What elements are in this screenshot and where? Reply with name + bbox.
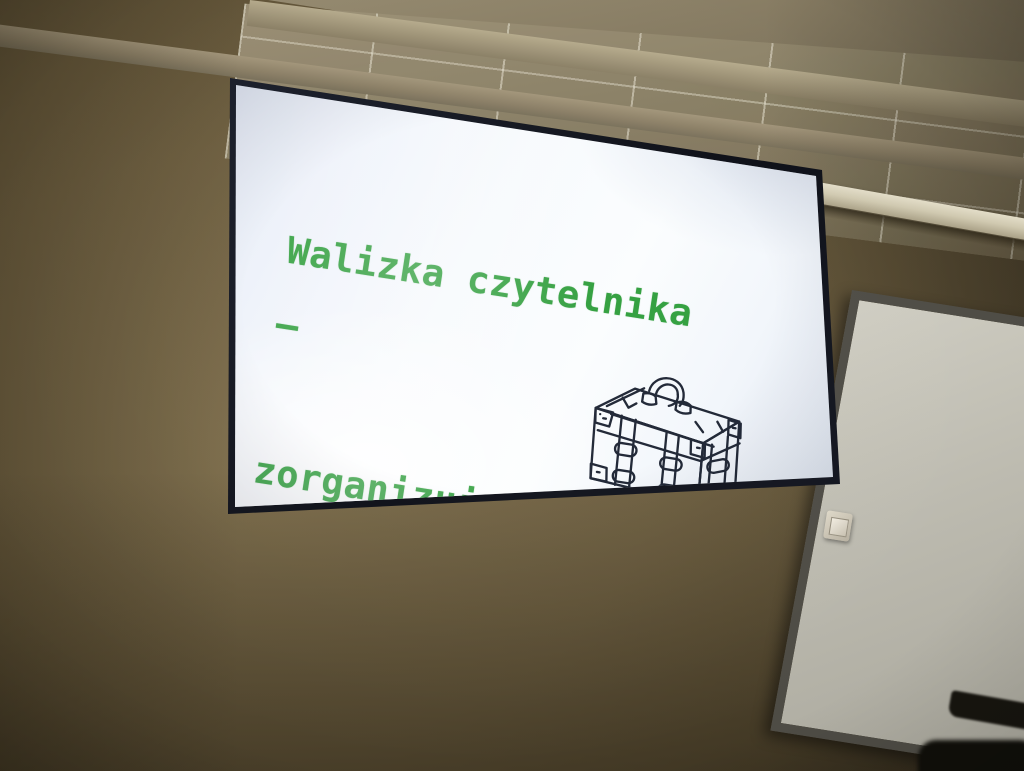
light-switch[interactable] — [823, 510, 853, 542]
photo-scene: Walizka czytelnika – zorganizuj swój czy… — [0, 0, 1024, 771]
dark-floor-object — [918, 740, 1024, 771]
